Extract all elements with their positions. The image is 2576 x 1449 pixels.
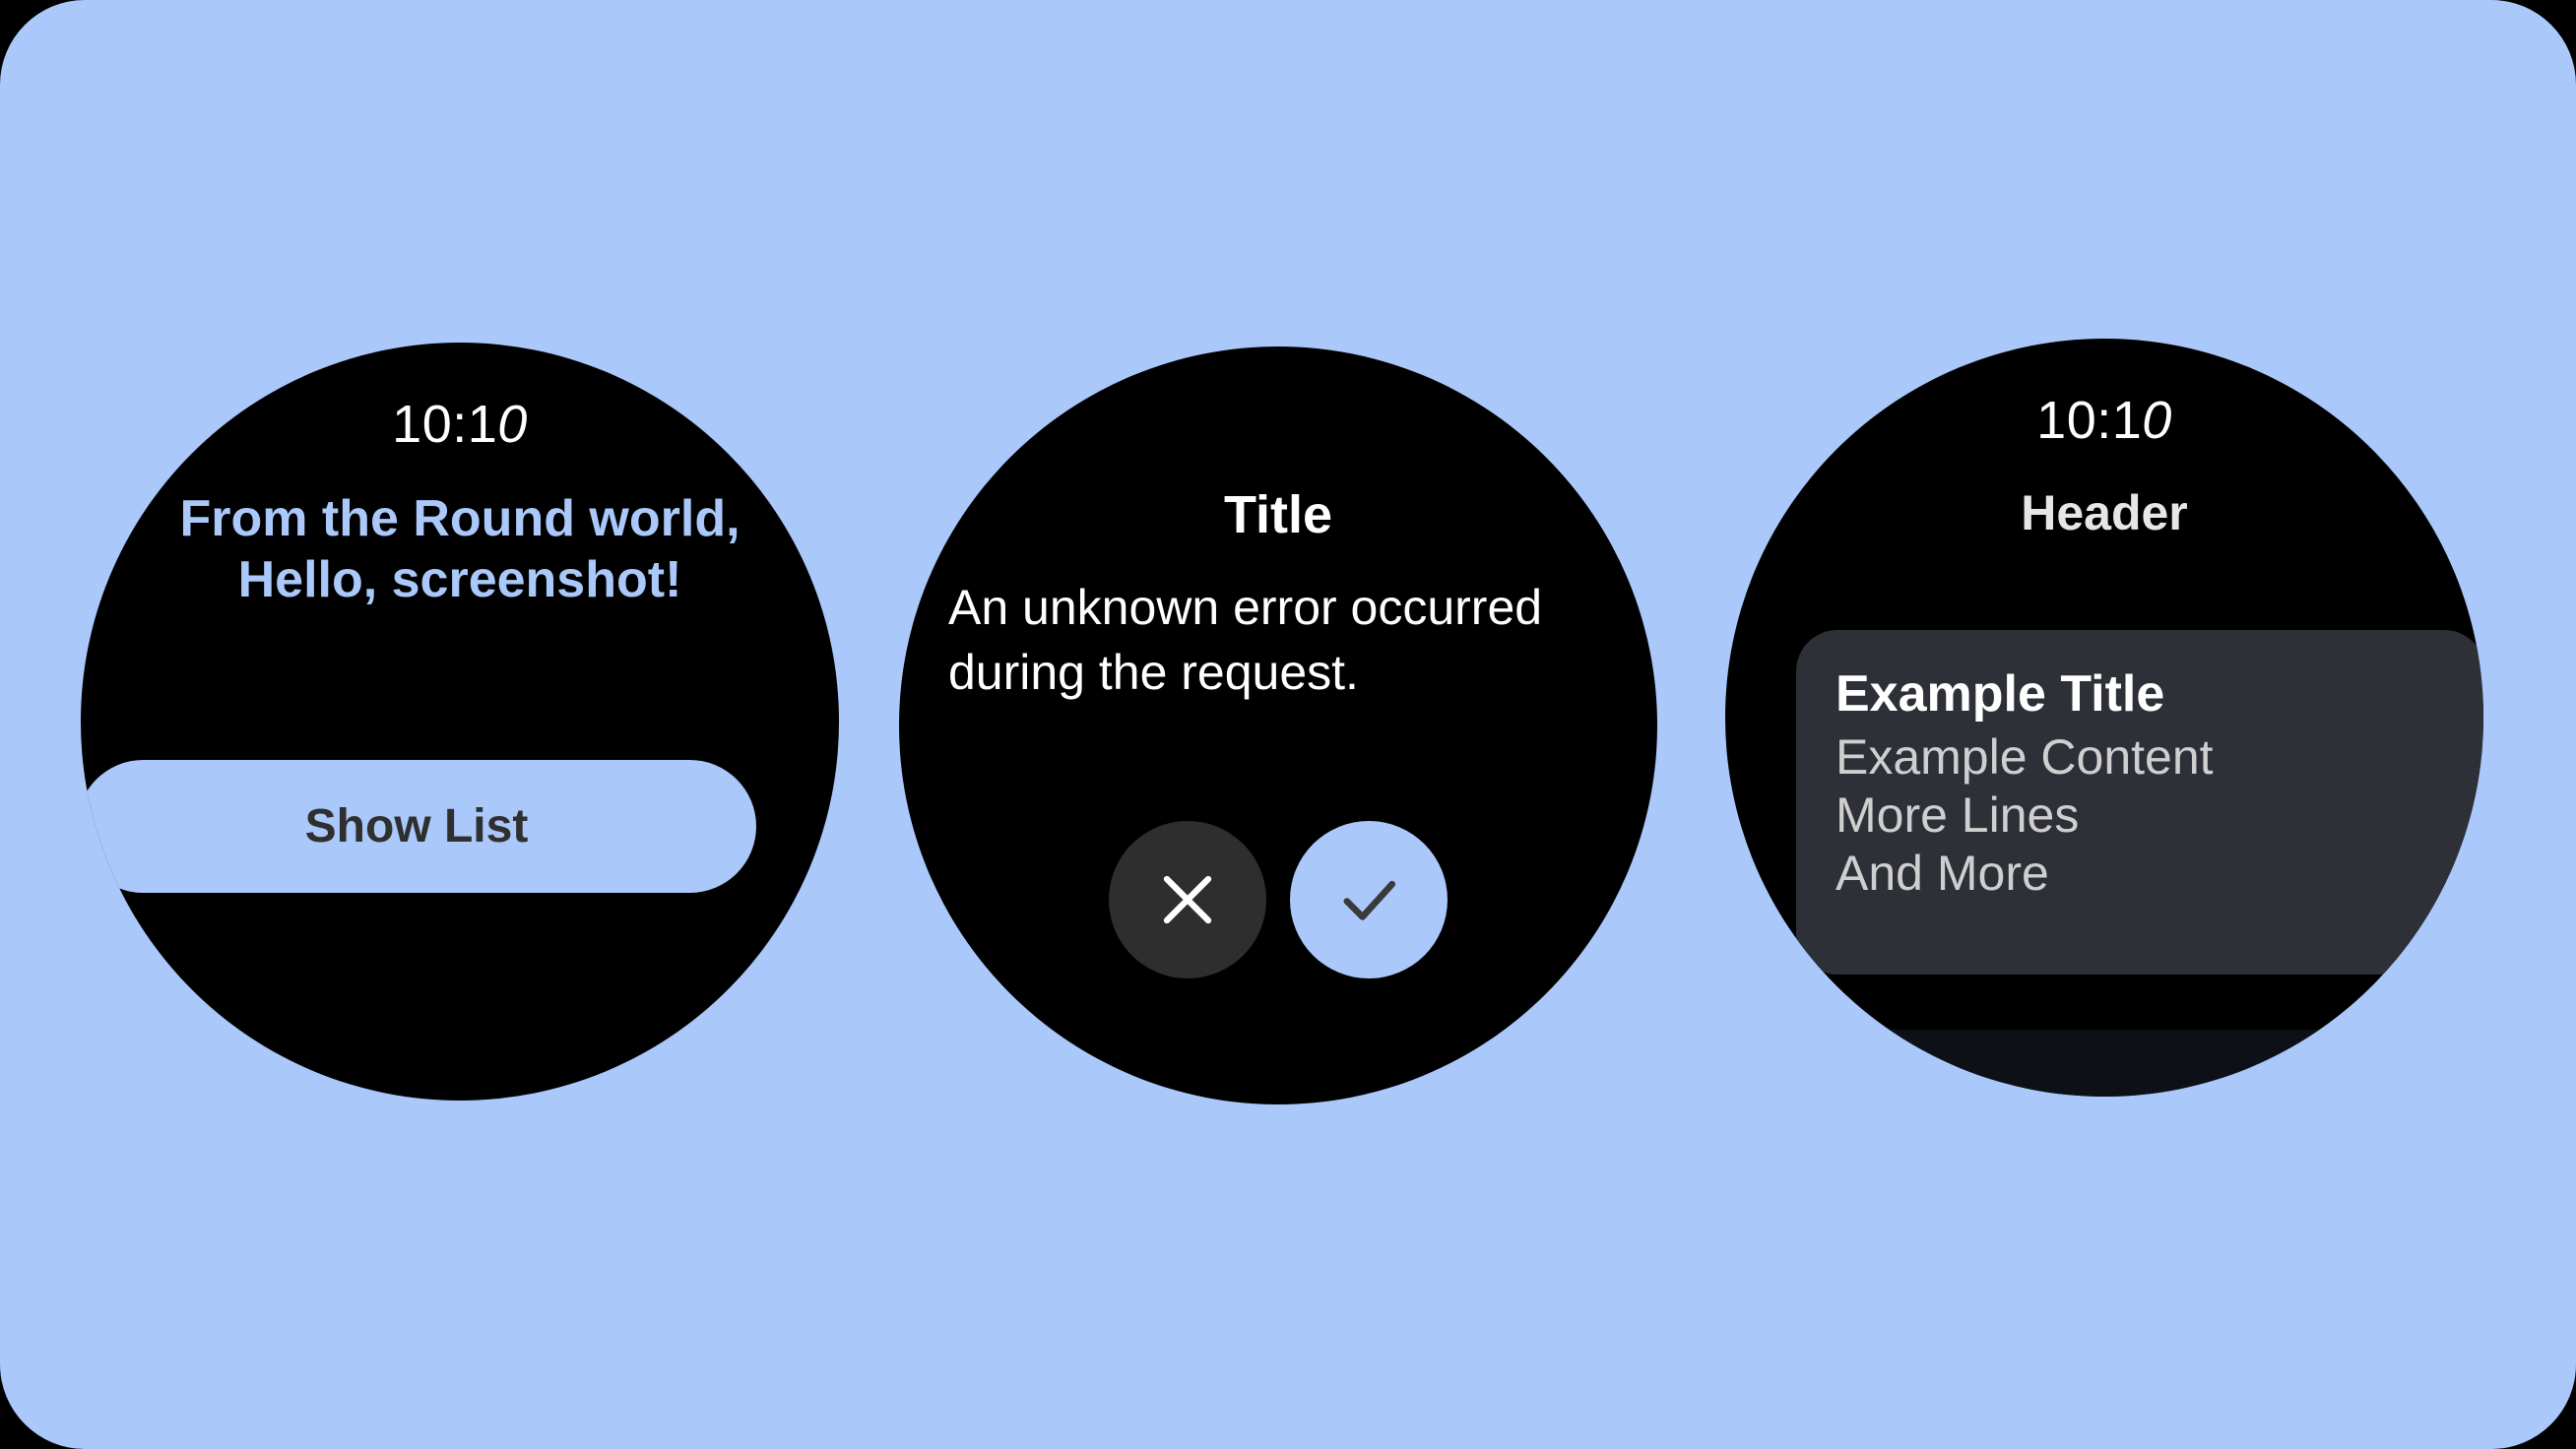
card-list-watch-preview: 10:10 Header Example Title Example Conte… bbox=[1725, 339, 2483, 1097]
close-icon bbox=[1152, 864, 1223, 935]
greeting-text: From the Round world, Hello, screenshot! bbox=[138, 488, 782, 610]
dismiss-button[interactable] bbox=[1109, 821, 1266, 978]
dialog-message: An unknown error occurred during the req… bbox=[948, 575, 1608, 705]
clock-hours: 10:1 bbox=[2036, 391, 2142, 450]
status-clock: 10:10 bbox=[81, 394, 839, 455]
dialog-button-row bbox=[899, 821, 1657, 978]
card-line: And More bbox=[1835, 845, 2446, 903]
card-title: Example Title bbox=[1835, 665, 2446, 723]
device-preview-frame: 10:10 From the Round world, Hello, scree… bbox=[0, 0, 2576, 1449]
hello-world-watch-preview: 10:10 From the Round world, Hello, scree… bbox=[81, 343, 839, 1101]
dialog-title: Title bbox=[899, 484, 1657, 545]
confirm-button[interactable] bbox=[1290, 821, 1448, 978]
example-card[interactable]: Example Title Example Content More Lines… bbox=[1796, 630, 2483, 975]
bottom-scrim-overlay bbox=[1725, 1030, 2483, 1097]
clock-minutes: 0 bbox=[2142, 391, 2172, 450]
alert-dialog-watch-preview: Title An unknown error occurred during t… bbox=[899, 346, 1657, 1104]
check-icon bbox=[1331, 862, 1406, 937]
clock-minutes: 0 bbox=[497, 395, 528, 454]
card-line: More Lines bbox=[1835, 787, 2446, 845]
show-list-button[interactable]: Show List bbox=[81, 760, 756, 893]
status-clock: 10:10 bbox=[1725, 390, 2483, 451]
header-title: Header bbox=[1725, 484, 2483, 541]
clock-hours: 10:1 bbox=[392, 395, 497, 454]
card-line: Example Content bbox=[1835, 728, 2446, 787]
